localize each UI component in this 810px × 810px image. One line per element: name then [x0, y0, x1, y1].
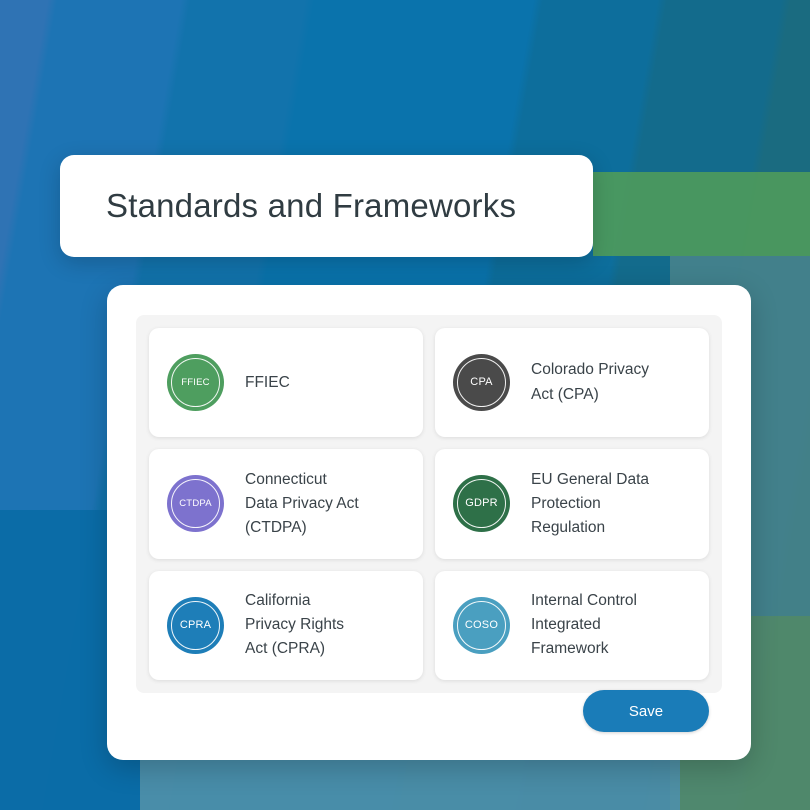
- framework-card[interactable]: FFIECFFIEC: [149, 328, 423, 437]
- framework-badge-code: CPRA: [180, 620, 211, 631]
- framework-badge-icon: CPRA: [167, 597, 224, 654]
- framework-label: Connecticut Data Privacy Act (CTDPA): [245, 468, 359, 541]
- framework-label: Internal Control Integrated Framework: [531, 589, 637, 662]
- framework-badge-icon: FFIEC: [167, 354, 224, 411]
- framework-badge-code: FFIEC: [181, 378, 209, 388]
- framework-badge-code: CTDPA: [179, 499, 212, 509]
- framework-card[interactable]: CPAColorado Privacy Act (CPA): [435, 328, 709, 437]
- framework-card[interactable]: COSOInternal Control Integrated Framewor…: [435, 571, 709, 680]
- framework-label: EU General Data Protection Regulation: [531, 468, 649, 541]
- framework-badge-code: COSO: [465, 620, 498, 631]
- page-title-card: Standards and Frameworks: [60, 155, 593, 257]
- framework-card[interactable]: CPRACalifornia Privacy Rights Act (CPRA): [149, 571, 423, 680]
- framework-label: California Privacy Rights Act (CPRA): [245, 589, 344, 662]
- bg-band-green-stripe-right: [593, 172, 810, 256]
- framework-label: Colorado Privacy Act (CPA): [531, 358, 649, 406]
- framework-badge-icon: CPA: [453, 354, 510, 411]
- framework-card[interactable]: GDPREU General Data Protection Regulatio…: [435, 449, 709, 558]
- framework-label: FFIEC: [245, 371, 290, 395]
- bg-band-bottom-soft-band: [140, 756, 680, 810]
- framework-card[interactable]: CTDPAConnecticut Data Privacy Act (CTDPA…: [149, 449, 423, 558]
- page-title: Standards and Frameworks: [60, 187, 516, 225]
- framework-badge-code: GDPR: [465, 498, 498, 509]
- save-button[interactable]: Save: [583, 690, 709, 732]
- framework-badge-icon: GDPR: [453, 475, 510, 532]
- framework-badge-icon: CTDPA: [167, 475, 224, 532]
- framework-badge-icon: COSO: [453, 597, 510, 654]
- frameworks-grid: FFIECFFIECCPAColorado Privacy Act (CPA)C…: [136, 315, 722, 693]
- framework-badge-code: CPA: [470, 377, 492, 388]
- frameworks-panel: FFIECFFIECCPAColorado Privacy Act (CPA)C…: [107, 285, 751, 760]
